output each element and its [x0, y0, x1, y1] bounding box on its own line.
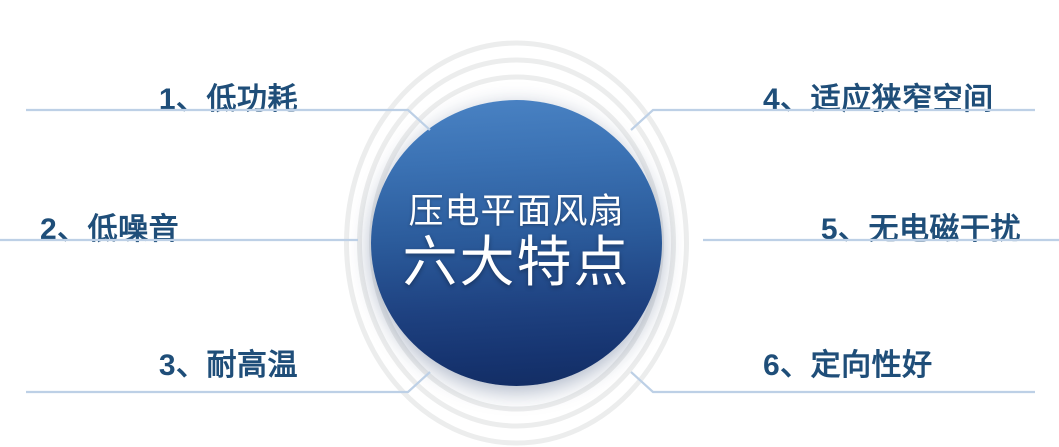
connector-line-2	[0, 232, 430, 262]
center-title-main: 六大特点	[402, 233, 630, 292]
feature-item-4[interactable]: 4、适应狭窄空间	[613, 46, 1043, 132]
feature-item-3[interactable]: 3、耐高温	[18, 312, 448, 398]
infographic-canvas: 压电平面风扇 六大特点 1、低功耗 2、低噪音 3、耐高温 4、适应狭窄空间 5…	[0, 0, 1059, 447]
feature-item-2[interactable]: 2、低噪音	[0, 176, 430, 262]
connector-line-1	[18, 102, 448, 132]
connector-line-6	[613, 368, 1043, 398]
connector-line-5	[631, 232, 1059, 262]
connector-line-4	[613, 102, 1043, 132]
connector-line-3	[18, 368, 448, 398]
feature-item-5[interactable]: 5、无电磁干扰	[631, 176, 1059, 262]
feature-item-1[interactable]: 1、低功耗	[18, 46, 448, 132]
feature-item-6[interactable]: 6、定向性好	[613, 312, 1043, 398]
center-title-top: 压电平面风扇	[408, 194, 624, 231]
